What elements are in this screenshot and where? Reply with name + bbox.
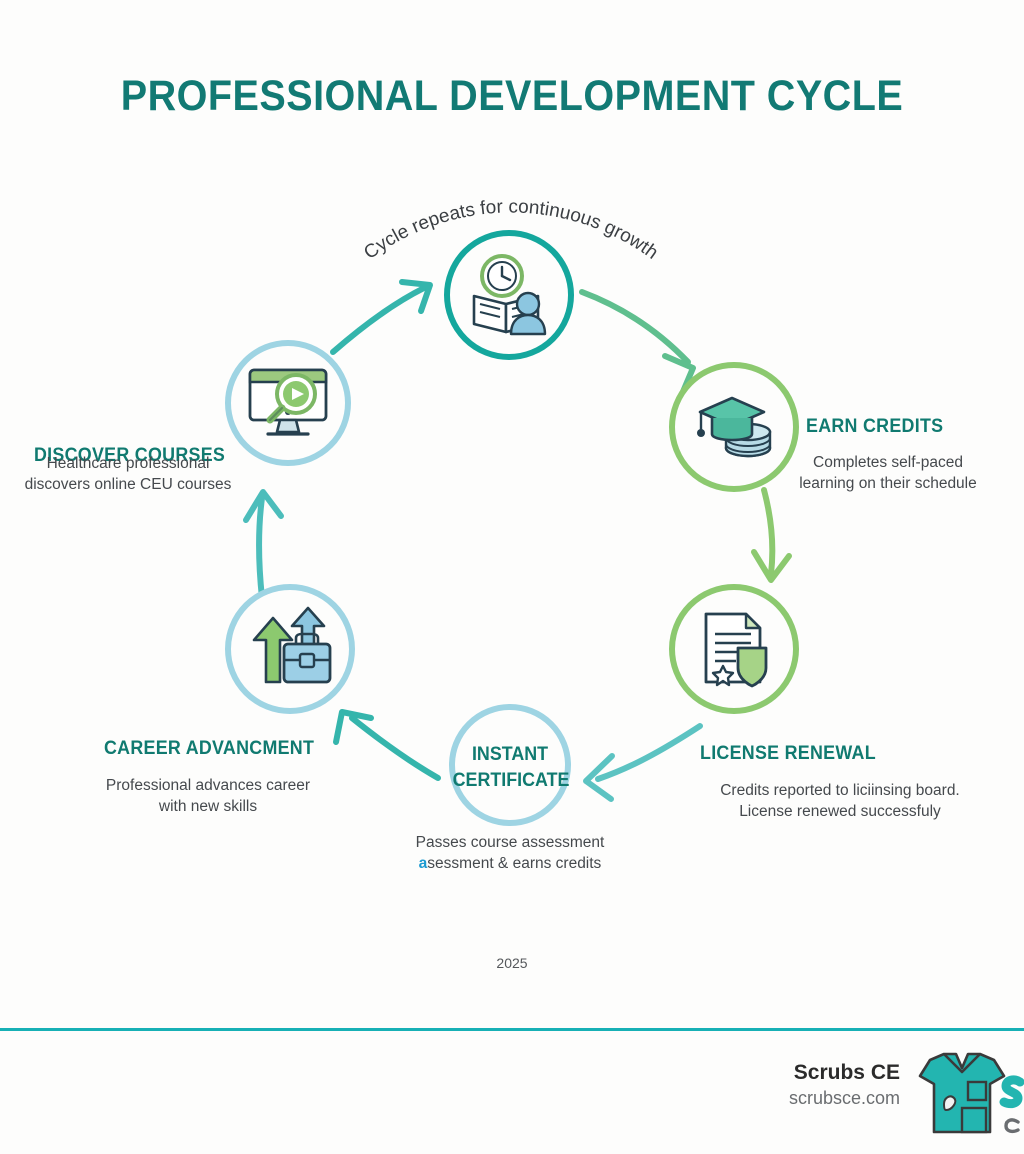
- career-advancement-desc: Professional advances career with new sk…: [58, 775, 358, 817]
- arrow-certificate-to-career: [336, 712, 438, 778]
- instant-certificate-label-line2: CERTIFICATE: [453, 770, 570, 791]
- arrow-hub-to-earn-credits: [582, 292, 693, 394]
- instant-certificate-desc-glitch: a: [419, 855, 428, 872]
- earn-credits-desc-line1: Completes self-paced: [813, 454, 963, 471]
- license-renewal-desc: Credits reported to liciinsing board. Li…: [690, 780, 990, 822]
- instant-certificate-label: INSTANT CERTIFICATE: [453, 742, 568, 794]
- arrows-briefcase-icon: [246, 604, 334, 692]
- monitor-magnifier-play-icon: [244, 364, 332, 444]
- earn-credits-desc: Completes self-paced learning on their s…: [788, 452, 988, 494]
- career-advancement-desc-line2: with new skills: [159, 798, 257, 815]
- instant-certificate-label-line1: INSTANT: [472, 744, 548, 765]
- discover-courses-desc-line1: Healthcare professional: [47, 455, 210, 472]
- brand-url[interactable]: scrubsce.com: [789, 1086, 900, 1110]
- instant-certificate-desc: Passes course assessment asessment & ear…: [400, 832, 620, 874]
- cycle-diagram-canvas: Cycle repeats for continuous growth: [0, 0, 1024, 1154]
- brand-name: Scrubs CE: [789, 1060, 900, 1086]
- license-renewal-desc-line2: License renewed successfuly: [739, 803, 941, 820]
- arrow-career-to-discover: [246, 492, 281, 598]
- document-shield-icon: [696, 608, 778, 690]
- career-advancement-desc-line1: Professional advances career: [106, 777, 310, 794]
- earn-credits-desc-line2: learning on their schedule: [799, 475, 977, 492]
- footer-brand: Scrubs CE scrubsce.com: [789, 1060, 900, 1110]
- clock-book-person-icon: [466, 252, 552, 338]
- footer-divider: [0, 1028, 1024, 1031]
- arrow-earn-credits-to-license: [754, 490, 789, 580]
- instant-certificate-desc-line2: sessment & earns credits: [427, 855, 601, 872]
- discover-courses-desc-line2: discovers online CEU courses: [25, 476, 232, 493]
- arrow-discover-to-hub: [333, 282, 430, 352]
- earn-credits-label: EARN CREDITS: [806, 416, 943, 438]
- scrub-top-icon: [900, 1048, 1024, 1140]
- career-advancement-label: CAREER ADVANCMENT: [104, 738, 314, 760]
- instant-certificate-desc-line1: Passes course assessment: [416, 834, 605, 851]
- license-renewal-label: LICENSE RENEWAL: [700, 743, 876, 765]
- discover-courses-desc-block: Healthcare professional discovers online…: [14, 453, 242, 495]
- arrow-license-to-certificate: [586, 726, 700, 799]
- license-renewal-desc-line1: Credits reported to liciinsing board.: [720, 782, 960, 799]
- year-label: 2025: [0, 955, 1024, 971]
- graduation-cap-coins-icon: [692, 386, 778, 472]
